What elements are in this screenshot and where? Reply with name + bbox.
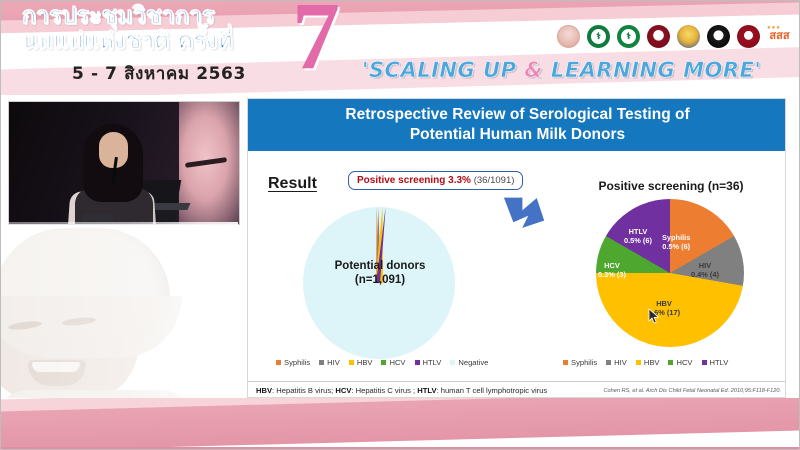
conference-thai-title: การประชุมวิชาการ นมแม่แห่งชาติ ครั้งที่	[22, 4, 302, 54]
pie-label-syphilis-value: 0.5% (6)	[662, 242, 690, 251]
pie-label-htlv: HTLV 0.5% (6)	[624, 227, 652, 245]
pie-label-htlv-name: HTLV	[629, 227, 648, 236]
abbrev-hbv-text: : Hepatitis B virus;	[272, 386, 335, 395]
slide-title: Retrospective Review of Serological Test…	[248, 99, 786, 151]
logo-royal-crest	[677, 25, 702, 52]
pie-label-hcv: HCV 0.3% (3)	[598, 261, 626, 279]
positive-screening-callout: Positive screening 3.3% (36/1091)	[348, 171, 523, 190]
legend-label-negative: Negative	[458, 358, 488, 367]
speaker-video-inset[interactable]	[8, 101, 240, 225]
result-heading: Result	[268, 175, 317, 193]
conference-date: 5 - 7 สิงหาคม 2563	[72, 60, 246, 87]
pie-label-hiv: HIV 0.4% (4)	[691, 261, 719, 279]
child-hat-brim	[0, 296, 182, 358]
legend-item-hbv[interactable]: HBV	[349, 358, 373, 367]
mouse-cursor-icon	[648, 308, 660, 324]
logo-green-health-2: ⚕	[617, 25, 642, 52]
pie-chart-positive-screening: Syphilis 0.5% (6) HIV 0.4% (4) HBV 1.6% …	[596, 199, 744, 347]
sponsor-logo-row: ⚕ ⚕ ●●● สสส	[557, 25, 792, 52]
child-mouth	[28, 360, 86, 386]
legend-item-hcv[interactable]: HCV	[381, 358, 405, 367]
legend-item-negative[interactable]: Negative	[450, 358, 488, 367]
pie-label-hcv-name: HCV	[604, 261, 620, 270]
pie-left-label-line-2: (n=1,091)	[296, 273, 464, 287]
conference-edition-number: 7	[292, 0, 340, 84]
abbrev-hbv: HBV	[256, 386, 272, 395]
pie-label-hcv-value: 0.3% (3)	[598, 270, 626, 279]
child-teeth	[32, 362, 80, 372]
thai-title-line-1: การประชุมวิชาการ	[22, 3, 215, 29]
abbrev-hcv: HCV	[335, 386, 351, 395]
thai-title-line-2: นมแม่แห่งชาติ ครั้งที่	[22, 29, 302, 54]
child-eye-left	[8, 320, 43, 331]
slide-title-line-1: Retrospective Review of Serological Test…	[345, 105, 689, 125]
logo-dark-red-emblem	[647, 25, 672, 52]
logo-sss-text: สสส	[767, 31, 792, 41]
legend-right-label-hiv: HIV	[614, 358, 627, 367]
logo-black-circle	[707, 25, 732, 52]
pie-label-hiv-name: HIV	[699, 261, 711, 270]
conference-tagline: 'SCALING UP & LEARNING MORE'	[362, 58, 761, 82]
tagline-part-1: 'SCALING UP	[362, 58, 524, 82]
legend-item-hiv[interactable]: HIV	[319, 358, 340, 367]
legend-label-hbv: HBV	[357, 358, 373, 367]
tagline-ampersand: &	[524, 58, 543, 82]
pie-label-hbv-name: HBV	[656, 299, 672, 308]
slide-panel[interactable]: Retrospective Review of Serological Test…	[247, 98, 786, 398]
legend-right-item-hbv[interactable]: HBV	[636, 358, 660, 367]
legend-right-item-hcv[interactable]: HCV	[668, 358, 692, 367]
pie-right-title: Positive screening (n=36)	[566, 179, 776, 193]
legend-label-hiv: HIV	[327, 358, 340, 367]
logo-green-health-1: ⚕	[587, 25, 612, 52]
source-citation: Cohen RS, et al. Arch Dis Child Fetal Ne…	[603, 388, 781, 394]
abbrev-htlv-text: : human T cell lymphotropic virus	[437, 386, 548, 395]
blue-arrow-icon	[501, 191, 547, 235]
pie-label-syphilis-name: Syphilis	[662, 233, 690, 242]
legend-item-syphilis[interactable]: Syphilis	[276, 358, 310, 367]
logo-dark-red-circle	[737, 25, 762, 52]
pie-right-legend: Syphilis HIV HBV HCV HTLV	[563, 358, 728, 367]
legend-right-item-syphilis[interactable]: Syphilis	[563, 358, 597, 367]
legend-right-label-hcv: HCV	[676, 358, 692, 367]
slide-footnote: HBV: Hepatitis B virus; HCV: Hepatitis C…	[248, 381, 786, 398]
abbrev-htlv: HTLV	[417, 386, 436, 395]
logo-sss: ●●● สสส	[767, 25, 792, 52]
callout-fraction-text: (36/1091)	[474, 175, 515, 186]
pie-left-label-line-1: Potential donors	[296, 259, 464, 273]
pie-label-hiv-value: 0.4% (4)	[691, 270, 719, 279]
abbreviation-definitions: HBV: Hepatitis B virus; HCV: Hepatitis C…	[256, 386, 547, 395]
legend-label-hcv: HCV	[389, 358, 405, 367]
conference-header-banner: การประชุมวิชาการ นมแม่แห่งชาติ ครั้งที่ …	[0, 0, 800, 95]
callout-highlight-text: Positive screening 3.3%	[357, 175, 471, 186]
pie-label-syphilis: Syphilis 0.5% (6)	[662, 233, 690, 251]
legend-right-label-hbv: HBV	[644, 358, 660, 367]
logo-thai-royal-seal	[557, 25, 582, 52]
abbrev-hcv-text: : Hepatitis C virus ;	[351, 386, 417, 395]
child-sun-hat	[0, 228, 170, 346]
legend-label-syphilis: Syphilis	[284, 358, 310, 367]
legend-label-htlv: HTLV	[423, 358, 442, 367]
legend-right-label-htlv: HTLV	[710, 358, 729, 367]
legend-item-htlv[interactable]: HTLV	[415, 358, 442, 367]
legend-right-item-hiv[interactable]: HIV	[606, 358, 627, 367]
pie-left-center-label: Potential donors (n=1,091)	[296, 259, 464, 287]
child-face	[0, 280, 138, 406]
legend-right-item-htlv[interactable]: HTLV	[702, 358, 729, 367]
pie-left-legend: Syphilis HIV HBV HCV HTLV Negative	[276, 358, 488, 367]
legend-right-label-syphilis: Syphilis	[571, 358, 597, 367]
background-child-photo	[0, 222, 238, 427]
slide-title-line-2: Potential Human Milk Donors	[410, 125, 625, 145]
child-eye-right	[62, 316, 97, 327]
footer-band	[0, 398, 800, 450]
presentation-stream-frame: การประชุมวิชาการ นมแม่แห่งชาติ ครั้งที่ …	[0, 0, 800, 450]
tagline-part-2: LEARNING MORE'	[543, 58, 761, 82]
pie-label-htlv-value: 0.5% (6)	[624, 236, 652, 245]
